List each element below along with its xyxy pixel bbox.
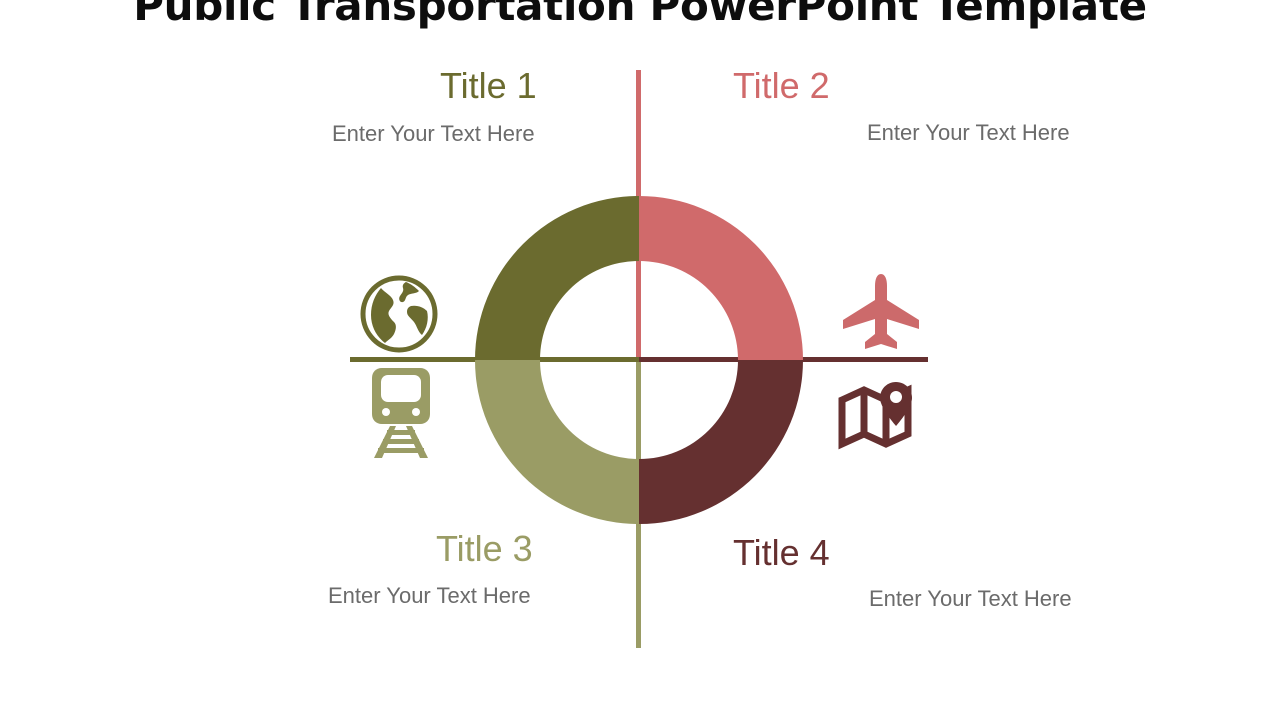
donut-segment-q4[interactable] <box>639 360 803 524</box>
donut-segment-q2[interactable] <box>639 196 803 360</box>
quadrant-4-body[interactable]: Enter Your Text Here <box>869 588 1072 610</box>
quadrant-2-title[interactable]: Title 2 <box>733 68 830 104</box>
globe-icon <box>359 274 439 354</box>
quadrant-1-body[interactable]: Enter Your Text Here <box>332 123 535 145</box>
quadrant-1-title[interactable]: Title 1 <box>440 68 537 104</box>
quadrant-2-body[interactable]: Enter Your Text Here <box>867 122 1070 144</box>
donut-chart <box>475 196 803 524</box>
train-icon <box>370 368 432 458</box>
map-pin-icon <box>838 382 924 452</box>
donut-segment-q3[interactable] <box>475 360 639 524</box>
page-title: Public Transportation PowerPoint Templat… <box>0 0 1280 35</box>
slide-canvas: Public Transportation PowerPoint Templat… <box>0 0 1280 720</box>
donut-segment-q1[interactable] <box>475 196 639 360</box>
quadrant-3-title[interactable]: Title 3 <box>436 531 533 567</box>
quadrant-3-body[interactable]: Enter Your Text Here <box>328 585 531 607</box>
quadrant-4-title[interactable]: Title 4 <box>733 535 830 571</box>
airplane-icon <box>841 272 921 352</box>
